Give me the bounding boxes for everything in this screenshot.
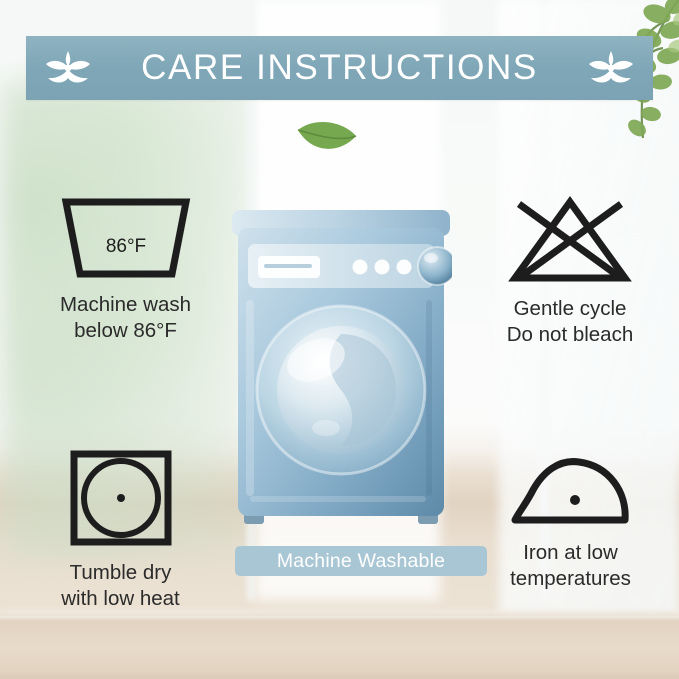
header-banner: CARE INSTRUCTIONS xyxy=(26,36,653,100)
iron-icon xyxy=(468,450,673,530)
machine-washable-badge: Machine Washable xyxy=(235,546,487,576)
fleur-de-lis-ornament-icon xyxy=(583,48,639,88)
symbol-tumble-dry-low: Tumble dry with low heat xyxy=(18,448,223,611)
triangle-crossed-no-bleach-icon xyxy=(470,196,670,284)
fleur-de-lis-ornament-icon xyxy=(40,48,96,88)
tumble-dry-square-circle-icon xyxy=(18,448,223,548)
symbol-gentle-cycle-caption: Gentle cycle Do not bleach xyxy=(470,296,670,347)
wash-tub-icon: 86°F xyxy=(18,196,233,282)
symbol-machine-wash-caption: Machine wash below 86°F xyxy=(18,292,233,343)
symbol-tumble-dry-caption: Tumble dry with low heat xyxy=(18,560,223,611)
machine-washable-badge-label: Machine Washable xyxy=(277,550,445,573)
symbol-iron-caption: Iron at low temperatures xyxy=(468,540,673,591)
washing-machine-illustration xyxy=(230,208,452,538)
symbol-machine-wash: 86°F Machine wash below 86°F xyxy=(18,196,233,343)
symbol-iron-low: Iron at low temperatures xyxy=(468,450,673,591)
symbol-gentle-cycle-no-bleach: Gentle cycle Do not bleach xyxy=(470,196,670,347)
page-title: CARE INSTRUCTIONS xyxy=(141,48,538,88)
leaf-icon xyxy=(296,120,358,162)
wash-temperature-value: 86°F xyxy=(105,236,145,257)
care-instructions-infographic: CARE INSTRUCTIONS xyxy=(0,0,679,679)
